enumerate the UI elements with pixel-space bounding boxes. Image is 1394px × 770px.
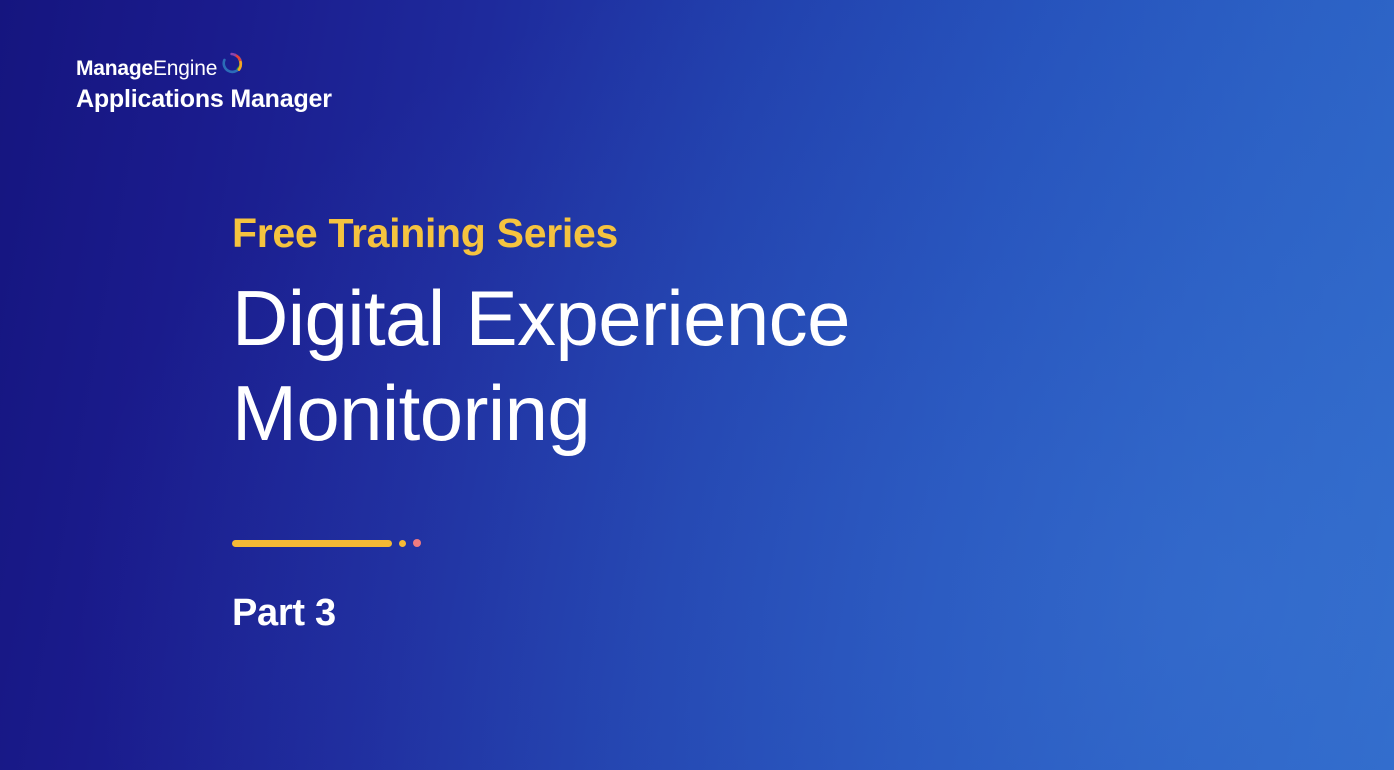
divider-dot-amber	[399, 540, 406, 547]
page-title-line-2: Monitoring	[232, 369, 590, 457]
page-title-line-1: Digital Experience	[232, 274, 850, 362]
divider	[232, 537, 1132, 549]
divider-bar	[232, 540, 392, 547]
manageengine-logo: Manage Engine Applications Manager	[76, 58, 332, 114]
brand-wordmark: Manage Engine	[76, 58, 332, 79]
title-block: Free Training Series Digital Experience …	[232, 210, 1132, 635]
divider-dot-pink	[413, 539, 421, 547]
manageengine-swoosh-icon	[218, 52, 244, 78]
page-title: Digital Experience Monitoring	[232, 271, 932, 461]
product-name: Applications Manager	[76, 86, 332, 114]
brand-name-bold: Manage	[76, 58, 153, 79]
brand-name-light: Engine	[153, 58, 217, 79]
title-slide: Manage Engine Applications Manager Free …	[0, 0, 1394, 770]
series-eyebrow: Free Training Series	[232, 210, 1132, 257]
part-label: Part 3	[232, 593, 1132, 635]
